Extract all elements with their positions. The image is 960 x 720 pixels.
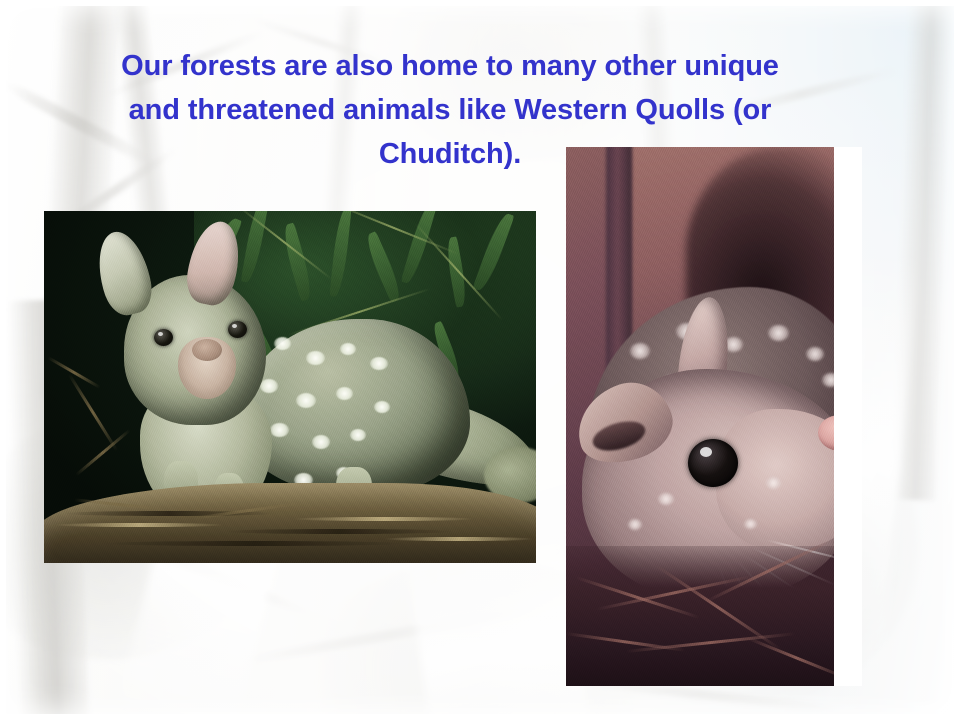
title-line-2: and threatened animals like Western Quol… xyxy=(55,88,845,132)
quoll-eye-left xyxy=(154,329,173,346)
title-line-3: Chuditch). xyxy=(55,132,845,176)
title-line-1: Our forests are also home to many other … xyxy=(55,44,845,88)
quoll-eye-right xyxy=(228,321,247,338)
slide-title: Our forests are also home to many other … xyxy=(55,44,845,176)
quoll-nose xyxy=(192,339,222,361)
quoll-eye-open xyxy=(688,439,738,487)
photo-white-strip xyxy=(834,147,862,686)
quoll-full-body-photo xyxy=(44,211,536,563)
nest-litter xyxy=(566,546,862,686)
quoll-head-closeup-photo xyxy=(566,147,862,686)
slide-canvas: Our forests are also home to many other … xyxy=(0,0,960,720)
